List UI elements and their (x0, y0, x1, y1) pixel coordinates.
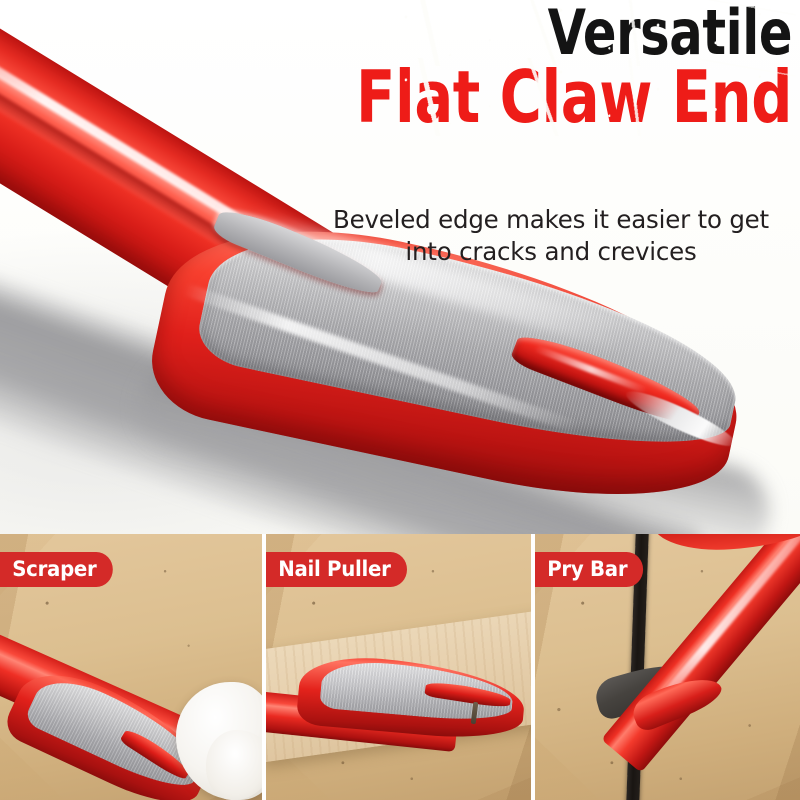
use-case-panel-pry-bar[interactable]: Pry Bar (535, 534, 800, 800)
headline-block: Versatile Flat Claw End (247, 4, 792, 132)
headline-line-flat-claw-end: Flat Claw End (356, 64, 792, 132)
panel-label-scraper: Scraper (0, 552, 112, 587)
caulk-residue-blob-secondary (206, 730, 262, 800)
feature-description: Beveled edge makes it easier to get into… (316, 204, 786, 268)
use-case-panel-nail-puller[interactable]: Nail Puller (266, 534, 531, 800)
panel-label-pry-bar: Pry Bar (535, 552, 643, 587)
use-case-panels: Scraper Nail Puller (0, 534, 800, 800)
use-case-panel-scraper[interactable]: Scraper (0, 534, 262, 800)
panel-label-nail-puller: Nail Puller (266, 552, 407, 587)
hero-section: Versatile Flat Claw End Beveled edge mak… (0, 0, 800, 534)
headline-line-versatile: Versatile (356, 4, 792, 62)
product-feature-image: Versatile Flat Claw End Beveled edge mak… (0, 0, 800, 800)
